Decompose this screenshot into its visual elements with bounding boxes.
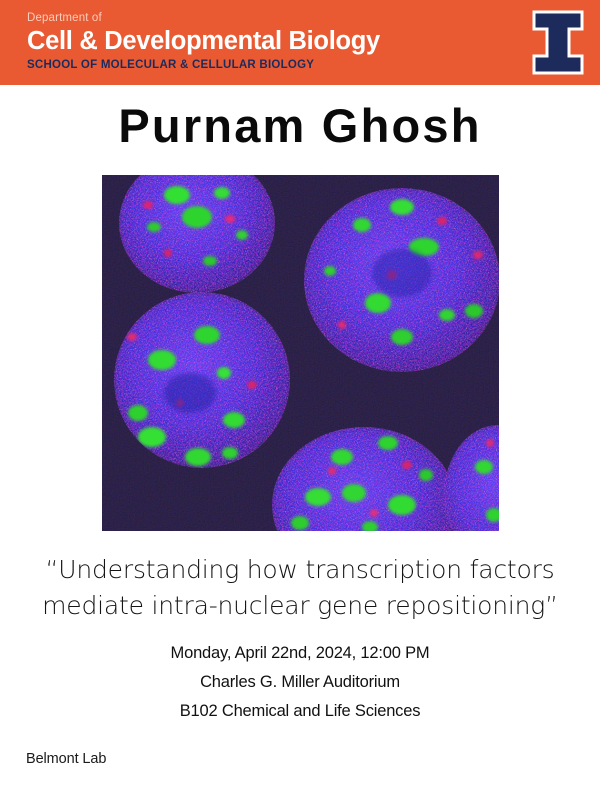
talk-title-line-1: “Understanding how transcription factors bbox=[20, 552, 580, 588]
event-datetime: Monday, April 22nd, 2024, 12:00 PM bbox=[0, 639, 600, 668]
speaker-name-heading: Purnam Ghosh bbox=[0, 98, 600, 154]
talk-title-line-2: mediate intra-nuclear gene repositioning… bbox=[20, 588, 580, 624]
header-text-block: Department of Cell & Developmental Biolo… bbox=[27, 11, 380, 72]
department-header-banner: Department of Cell & Developmental Biolo… bbox=[0, 0, 600, 85]
event-venue-room: Charles G. Miller Auditorium bbox=[0, 668, 600, 697]
lab-credit-label: Belmont Lab bbox=[26, 751, 106, 767]
school-name-subtitle: SCHOOL OF MOLECULAR & CELLULAR BIOLOGY bbox=[27, 58, 380, 72]
talk-title-quote: “Understanding how transcription factors… bbox=[20, 552, 580, 624]
fluorescence-micrograph-image bbox=[102, 175, 499, 531]
department-name-title: Cell & Developmental Biology bbox=[27, 26, 380, 56]
university-of-illinois-block-i-logo bbox=[528, 9, 588, 76]
event-details-block: Monday, April 22nd, 2024, 12:00 PM Charl… bbox=[0, 639, 600, 726]
event-venue-building: B102 Chemical and Life Sciences bbox=[0, 697, 600, 726]
department-eyebrow-label: Department of bbox=[27, 11, 380, 25]
micrograph-canvas bbox=[102, 175, 499, 531]
